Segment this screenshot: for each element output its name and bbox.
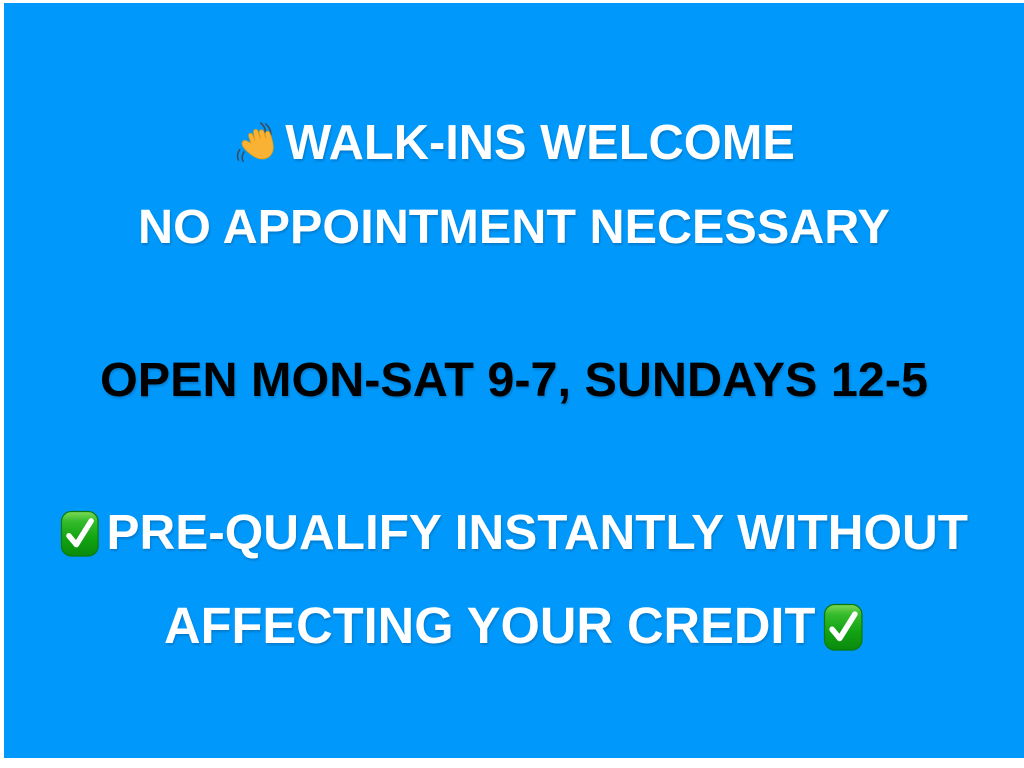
sign-canvas: WALK-INS WELCOME NO APPOINTMENT NECESSAR… (0, 0, 1024, 768)
no-appointment-necessary-text: NO APPOINTMENT NECESSARY (138, 200, 890, 254)
headline-affecting-your-credit: AFFECTING YOUR CREDIT (4, 601, 1024, 652)
walk-ins-welcome-text: WALK-INS WELCOME (285, 116, 795, 170)
pre-qualify-text: PRE-QUALIFY INSTANTLY WITHOUT (107, 505, 968, 560)
store-hours-line: OPEN MON-SAT 9-7, SUNDAYS 12-5 (4, 356, 1024, 405)
store-hours-text: OPEN MON-SAT 9-7, SUNDAYS 12-5 (100, 353, 928, 407)
headline-no-appointment-necessary: NO APPOINTMENT NECESSARY (4, 203, 1024, 252)
white-check-mark-icon (823, 603, 863, 651)
waving-hand-icon (233, 120, 279, 166)
promotional-sign-poster: WALK-INS WELCOME NO APPOINTMENT NECESSAR… (4, 3, 1024, 758)
affecting-your-credit-text: AFFECTING YOUR CREDIT (164, 597, 815, 654)
headline-pre-qualify-instantly: PRE-QUALIFY INSTANTLY WITHOUT (4, 508, 1024, 557)
headline-walk-ins-welcome: WALK-INS WELCOME (4, 119, 1024, 168)
white-check-mark-icon (60, 510, 100, 557)
